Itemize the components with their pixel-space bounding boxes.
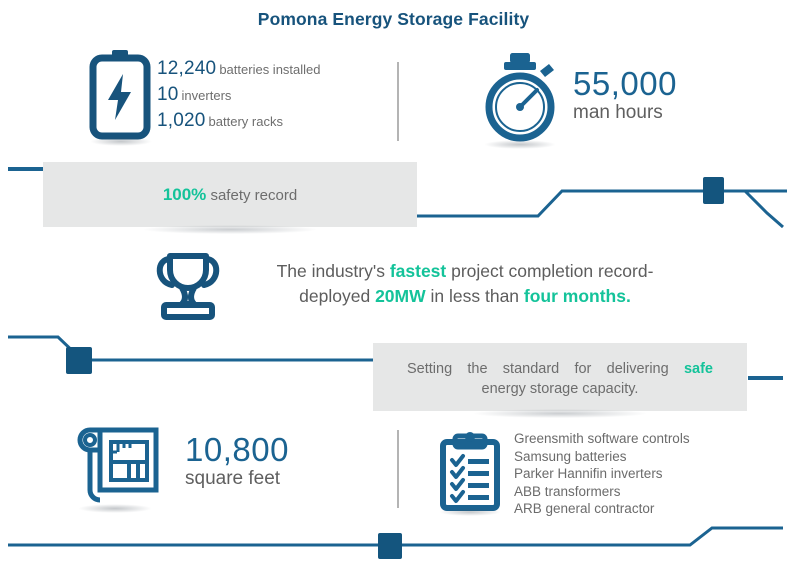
infographic-canvas: Pomona Energy Storage Facility 12,240bat… bbox=[0, 0, 787, 568]
trophy-line2-pre: deployed bbox=[299, 286, 375, 306]
trophy-icon bbox=[148, 250, 228, 322]
square-feet-label: square feet bbox=[185, 468, 289, 491]
safety-record-panel: 100% safety record bbox=[43, 162, 417, 227]
circuit-node bbox=[378, 533, 402, 559]
list-item: ARB general contractor bbox=[514, 500, 690, 518]
clipboard-checklist-icon bbox=[437, 434, 503, 512]
trophy-line1-post: project completion record- bbox=[446, 261, 653, 281]
safety-percent: 100% bbox=[163, 185, 206, 204]
stopwatch-icon bbox=[478, 52, 562, 144]
circuit-node bbox=[703, 177, 724, 204]
standard-line2: energy storage capacity. bbox=[407, 381, 713, 397]
standard-text: Setting the standard for delivering safe… bbox=[407, 361, 713, 397]
square-feet-stat: 10,800 square feet bbox=[185, 433, 289, 490]
man-hours-label: man hours bbox=[573, 102, 677, 125]
stat-label: battery racks bbox=[209, 114, 283, 129]
list-item: Greensmith software controls bbox=[514, 430, 690, 448]
standard-word: for bbox=[574, 361, 591, 377]
standard-word: delivering bbox=[607, 361, 669, 377]
safety-label: safety record bbox=[210, 187, 297, 204]
vendor-list: Greensmith software controls Samsung bat… bbox=[514, 430, 690, 518]
stat-label: inverters bbox=[182, 88, 232, 103]
trophy-line1-pre: The industry's bbox=[277, 261, 390, 281]
safety-record-text: 100% safety record bbox=[43, 185, 417, 205]
standard-word: the bbox=[467, 361, 487, 377]
trophy-line2-mid: in less than bbox=[426, 286, 524, 306]
bottom-column-divider bbox=[397, 430, 399, 508]
stat-value: 12,240 bbox=[157, 58, 216, 79]
battery-icon bbox=[88, 48, 152, 140]
stat-value: 1,020 bbox=[157, 110, 206, 131]
standard-line1: Setting the standard for delivering safe bbox=[407, 361, 713, 377]
man-hours-stat: 55,000 man hours bbox=[573, 67, 677, 124]
trophy-statement: The industry's fastest project completio… bbox=[245, 259, 685, 309]
stat-value: 10 bbox=[157, 84, 179, 105]
trophy-statement-line2: deployed 20MW in less than four months. bbox=[245, 284, 685, 309]
stat-row: 10inverters bbox=[157, 85, 321, 104]
man-hours-value: 55,000 bbox=[573, 67, 677, 102]
standard-word: Setting bbox=[407, 361, 452, 377]
panel-shadow bbox=[144, 225, 316, 234]
standard-panel: Setting the standard for delivering safe… bbox=[373, 343, 747, 411]
circuit-node bbox=[66, 347, 92, 374]
blueprint-icon bbox=[70, 424, 160, 508]
stat-row: 1,020battery racks bbox=[157, 111, 321, 130]
battery-stats: 12,240batteries installed 10inverters 1,… bbox=[157, 59, 321, 137]
square-feet-value: 10,800 bbox=[185, 433, 289, 468]
panel-shadow bbox=[474, 409, 646, 418]
list-item: Samsung batteries bbox=[514, 448, 690, 466]
trophy-statement-line1: The industry's fastest project completio… bbox=[245, 259, 685, 284]
trophy-line1-highlight: fastest bbox=[390, 261, 446, 281]
list-item: ABB transformers bbox=[514, 483, 690, 501]
standard-word: standard bbox=[503, 361, 559, 377]
top-column-divider bbox=[397, 62, 399, 141]
list-item: Parker Hannifin inverters bbox=[514, 465, 690, 483]
standard-highlight: safe bbox=[684, 361, 713, 377]
page-title: Pomona Energy Storage Facility bbox=[0, 9, 787, 30]
trophy-line2-highlight-2: four months. bbox=[524, 286, 631, 306]
stat-label: batteries installed bbox=[219, 62, 320, 77]
trophy-line2-highlight-1: 20MW bbox=[375, 286, 426, 306]
circuit-line-3 bbox=[0, 520, 787, 568]
stat-row: 12,240batteries installed bbox=[157, 59, 321, 78]
